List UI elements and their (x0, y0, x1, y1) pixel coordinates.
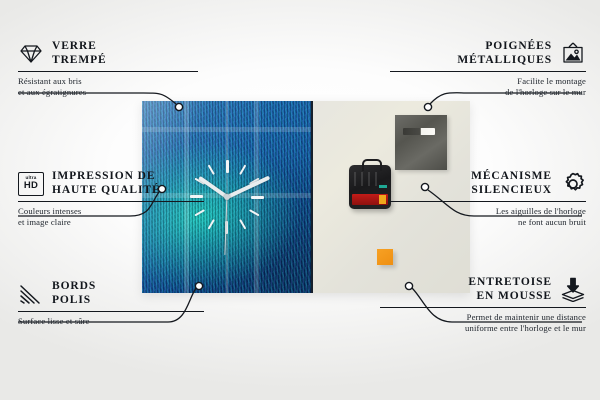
feature-title-line2: SILENCIEUX (471, 184, 552, 198)
feature-desc-line2: uniforme entre l'horloge et le mur (380, 323, 586, 334)
feature-desc-line1: Couleurs intenses (18, 206, 204, 217)
feature-title-line1: VERRE (52, 40, 107, 54)
feature-title-line1: ENTRETOISE (468, 276, 552, 290)
feature-poignees-metalliques: POIGNÉES MÉTALLIQUES Facilite le montage… (390, 40, 586, 98)
feature-title-line1: POIGNÉES (457, 40, 552, 54)
metal-hanger-plate (395, 115, 447, 170)
polished-edge-icon (18, 281, 44, 307)
ultra-hd-icon-main-text: HD (24, 181, 38, 191)
feature-impression-haute-qualite: ultra HD IMPRESSION DE HAUTE QUALITÉ Cou… (18, 170, 204, 228)
arrow-into-layers-icon (560, 277, 586, 303)
feature-title-line1: BORDS (52, 280, 96, 294)
feature-desc-line2: et aux égratignures (18, 87, 198, 98)
feature-bords-polis: BORDS POLIS Surface lisse et sûre (18, 280, 204, 327)
infographic-stage: VERRE TREMPÉ Résistant aux bris et aux é… (0, 0, 600, 400)
feature-title-line2: POLIS (52, 294, 96, 308)
diamond-icon (18, 41, 44, 67)
feature-desc-line1: Facilite le montage (390, 76, 586, 87)
feature-desc-line2: et image claire (18, 217, 204, 228)
feature-desc-line1: Résistant aux bris (18, 76, 198, 87)
feature-title-line2: HAUTE QUALITÉ (52, 184, 161, 198)
feature-desc-line2: de l'horloge sur le mur (390, 87, 586, 98)
mechanism-texture (354, 172, 380, 186)
feature-rule (18, 201, 204, 202)
feature-desc-line1: Les aiguilles de l'horloge (390, 206, 586, 217)
feature-title-line1: IMPRESSION DE (52, 170, 161, 184)
clock-mechanism (349, 165, 391, 209)
feature-rule (390, 201, 586, 202)
feature-desc-line1: Permet de maintenir une distance (380, 312, 586, 323)
battery (352, 194, 388, 205)
feature-rule (18, 71, 198, 72)
mechanism-hook (362, 159, 382, 171)
feature-rule (390, 71, 586, 72)
hanging-picture-frame-icon (560, 41, 586, 67)
feature-mecanisme-silencieux: MÉCANISME SILENCIEUX Les aiguilles de l'… (390, 170, 586, 228)
foam-spacer (377, 249, 393, 265)
feature-entretoise-en-mousse: ENTRETOISE EN MOUSSE Permet de maintenir… (380, 276, 586, 334)
ultra-hd-icon: ultra HD (18, 171, 44, 197)
feature-title-line1: MÉCANISME (471, 170, 552, 184)
feature-title-line2: MÉTALLIQUES (457, 54, 552, 68)
feature-title-line2: EN MOUSSE (468, 290, 552, 304)
clock-hub (224, 194, 230, 200)
feature-desc-line1: Surface lisse et sûre (18, 316, 204, 327)
feature-rule (18, 311, 204, 312)
gear-icon (560, 171, 586, 197)
mechanism-label (379, 185, 387, 188)
feature-rule (380, 307, 586, 308)
hanger-keyhole-slot (403, 128, 435, 135)
feature-title-line2: TREMPÉ (52, 54, 107, 68)
feature-verre-trempe: VERRE TREMPÉ Résistant aux bris et aux é… (18, 40, 198, 98)
feature-desc-line2: ne font aucun bruit (390, 217, 586, 228)
